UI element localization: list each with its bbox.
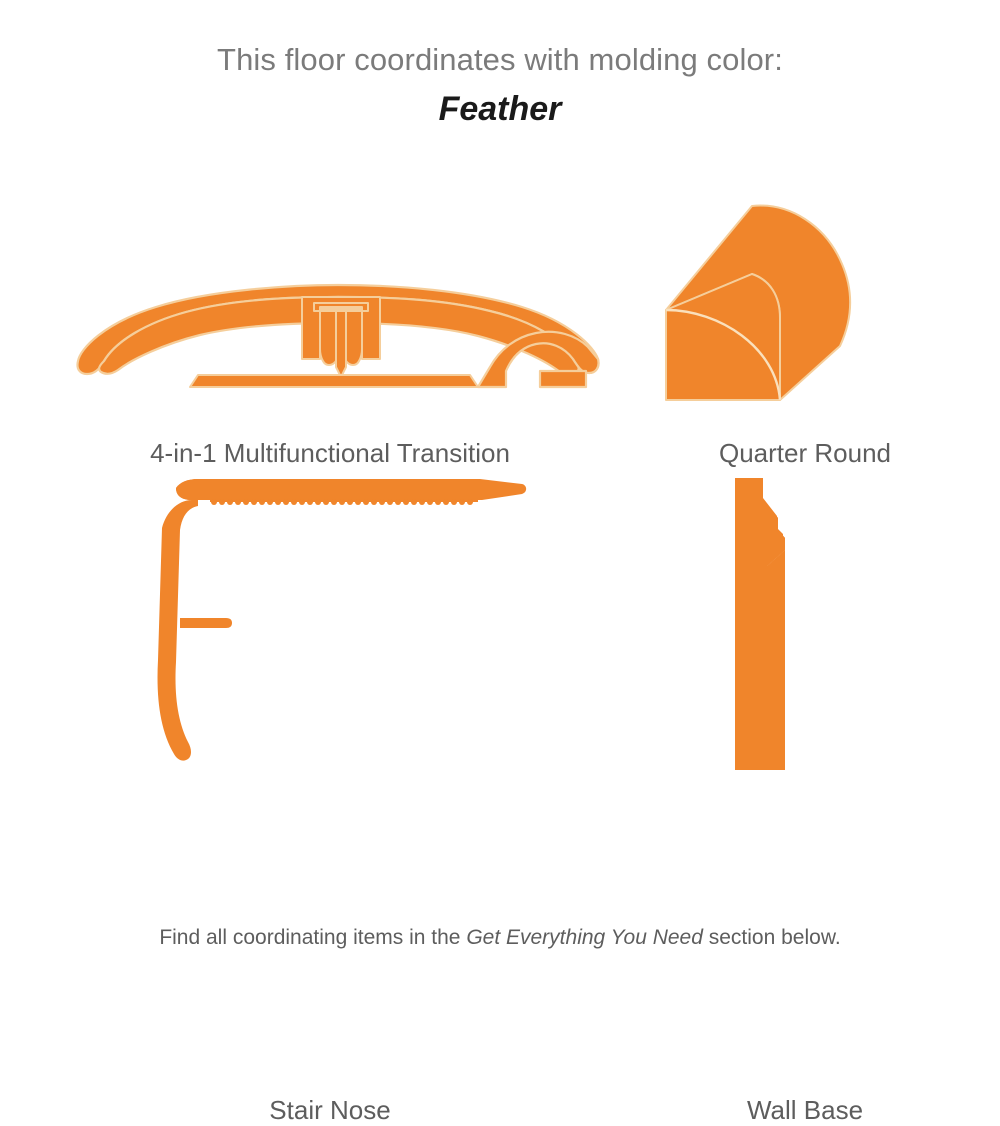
molding-color-name: Feather	[0, 87, 1000, 131]
product-cell-wall-base: Wall Base	[620, 470, 990, 860]
product-label-transition: 4-in-1 Multifunctional Transition	[40, 438, 620, 469]
product-label-stair-nose: Stair Nose	[40, 1095, 620, 1126]
footer-note: Find all coordinating items in the Get E…	[0, 924, 1000, 952]
stair-nose-molding-profile-icon	[130, 470, 530, 785]
transition-molding-profile-icon	[70, 275, 615, 400]
footer-prefix: Find all coordinating items in the	[159, 926, 466, 949]
product-label-quarter-round: Quarter Round	[620, 438, 990, 469]
header: This floor coordinates with molding colo…	[0, 0, 1000, 131]
footer-emphasis: Get Everything You Need	[466, 926, 703, 949]
quarter-round-molding-icon	[640, 188, 870, 423]
wall-base-molding-profile-icon	[705, 470, 825, 785]
product-label-wall-base: Wall Base	[620, 1095, 990, 1126]
molding-coordination-card: This floor coordinates with molding colo…	[0, 0, 1000, 1000]
page-title: This floor coordinates with molding colo…	[0, 40, 1000, 80]
product-grid: 4-in-1 Multifunctional Transition Quarte…	[0, 170, 1000, 870]
footer-suffix: section below.	[703, 926, 841, 949]
product-cell-stair-nose: Stair Nose	[40, 470, 620, 860]
product-cell-transition: 4-in-1 Multifunctional Transition	[40, 180, 620, 480]
product-cell-quarter-round: Quarter Round	[620, 180, 990, 480]
